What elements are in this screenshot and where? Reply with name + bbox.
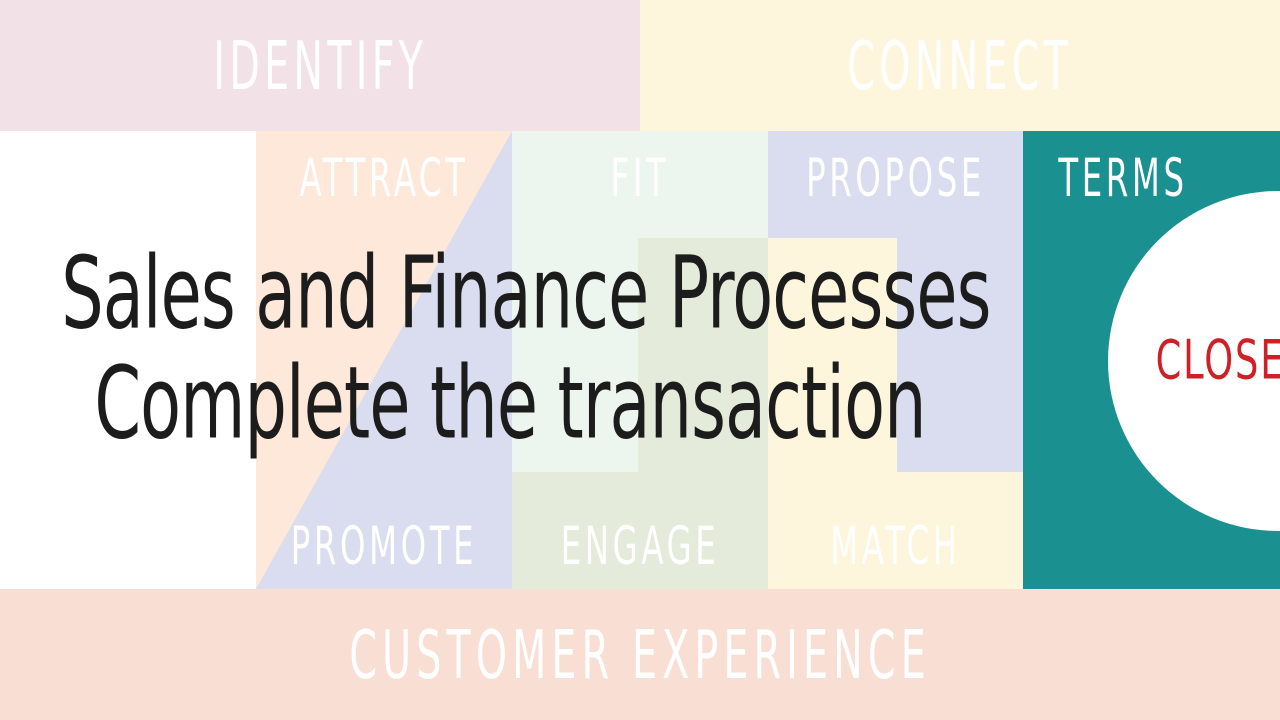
stage-label-propose[interactable]: PROPOSE bbox=[781, 131, 1011, 245]
slide-canvas: IDENTIFY CONNECT CLOSE ATTRACT FIT PROPO… bbox=[0, 0, 1280, 720]
band-identify: IDENTIFY bbox=[0, 0, 640, 131]
band-connect: CONNECT bbox=[640, 0, 1280, 131]
stage-label-match[interactable]: MATCH bbox=[781, 483, 1011, 589]
band-customer-experience: CUSTOMER EXPERIENCE bbox=[0, 589, 1280, 720]
stage-label-terms[interactable]: TERMS bbox=[1033, 131, 1213, 245]
close-label: CLOSE bbox=[1156, 334, 1280, 388]
column-blank bbox=[0, 131, 256, 589]
stage-area: CLOSE ATTRACT FIT PROPOSE TERMS PROMOTE … bbox=[0, 131, 1280, 589]
band-customer-experience-label: CUSTOMER EXPERIENCE bbox=[349, 621, 931, 688]
stage-label-fit[interactable]: FIT bbox=[525, 131, 755, 245]
band-connect-label: CONNECT bbox=[848, 32, 1073, 99]
stage-label-promote[interactable]: PROMOTE bbox=[269, 483, 499, 589]
stage-label-attract[interactable]: ATTRACT bbox=[269, 131, 499, 245]
band-identify-label: IDENTIFY bbox=[213, 32, 427, 99]
stage-label-engage[interactable]: ENGAGE bbox=[525, 483, 755, 589]
